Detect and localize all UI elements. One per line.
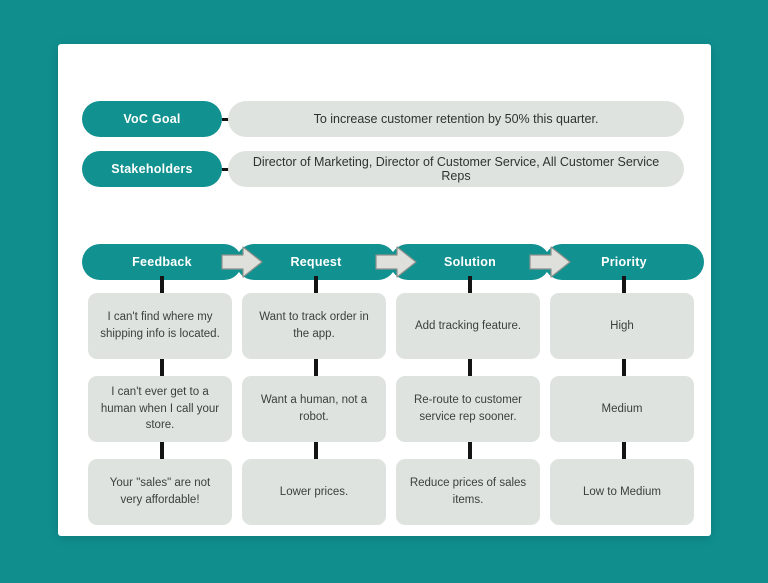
card-feedback-1[interactable]: I can't find where my shipping info is l… [88,293,232,359]
card-priority-3-text: Low to Medium [583,484,661,501]
connector-feedback-r2-r3 [160,442,164,459]
voc-goal-label-pill[interactable]: VoC Goal [82,101,222,137]
connector-request-r1-r2 [314,359,318,376]
card-request-2-text: Want a human, not a robot. [254,392,374,425]
card-solution-2[interactable]: Re-route to customer service rep sooner. [396,376,540,442]
card-request-3[interactable]: Lower prices. [242,459,386,525]
connector-priority-r1-r2 [622,359,626,376]
stage-header-priority-label: Priority [601,255,647,269]
connector-request-r2-r3 [314,442,318,459]
card-priority-2-text: Medium [602,401,643,418]
card-feedback-1-text: I can't find where my shipping info is l… [100,309,220,342]
connector-priority-r2-r3 [622,442,626,459]
connector-solution-r2-r3 [468,442,472,459]
card-request-2[interactable]: Want a human, not a robot. [242,376,386,442]
voc-goal-label: VoC Goal [123,112,180,126]
arrow-request-to-solution [375,246,417,278]
connector-request-h-r1 [314,276,318,293]
stage-header-feedback-label: Feedback [132,255,192,269]
card-feedback-3-text: Your "sales" are not very affordable! [100,475,220,508]
card-feedback-3[interactable]: Your "sales" are not very affordable! [88,459,232,525]
card-priority-1-text: High [610,318,634,335]
stage-header-request-label: Request [290,255,341,269]
card-solution-2-text: Re-route to customer service rep sooner. [408,392,528,425]
diagram-sheet: VoC Goal To increase customer retention … [58,44,711,536]
card-priority-3[interactable]: Low to Medium [550,459,694,525]
card-request-1-text: Want to track order in the app. [254,309,374,342]
arrow-feedback-to-request [221,246,263,278]
stakeholders-value: Director of Marketing, Director of Custo… [242,155,670,183]
card-priority-2[interactable]: Medium [550,376,694,442]
stakeholders-label: Stakeholders [111,162,193,176]
stage-header-feedback[interactable]: Feedback [82,244,242,280]
card-priority-1[interactable]: High [550,293,694,359]
voc-goal-value-box[interactable]: To increase customer retention by 50% th… [228,101,684,137]
voc-goal-value: To increase customer retention by 50% th… [314,112,599,126]
card-solution-3-text: Reduce prices of sales items. [408,475,528,508]
arrow-solution-to-priority [529,246,571,278]
card-request-1[interactable]: Want to track order in the app. [242,293,386,359]
card-request-3-text: Lower prices. [280,484,348,501]
card-feedback-2-text: I can't ever get to a human when I call … [100,384,220,434]
connector-feedback-r1-r2 [160,359,164,376]
connector-feedback-h-r1 [160,276,164,293]
card-solution-3[interactable]: Reduce prices of sales items. [396,459,540,525]
stakeholders-label-pill[interactable]: Stakeholders [82,151,222,187]
card-feedback-2[interactable]: I can't ever get to a human when I call … [88,376,232,442]
connector-priority-h-r1 [622,276,626,293]
card-solution-1[interactable]: Add tracking feature. [396,293,540,359]
connector-solution-h-r1 [468,276,472,293]
card-solution-1-text: Add tracking feature. [415,318,521,335]
connector-solution-r1-r2 [468,359,472,376]
stakeholders-value-box[interactable]: Director of Marketing, Director of Custo… [228,151,684,187]
stage-header-solution-label: Solution [444,255,496,269]
